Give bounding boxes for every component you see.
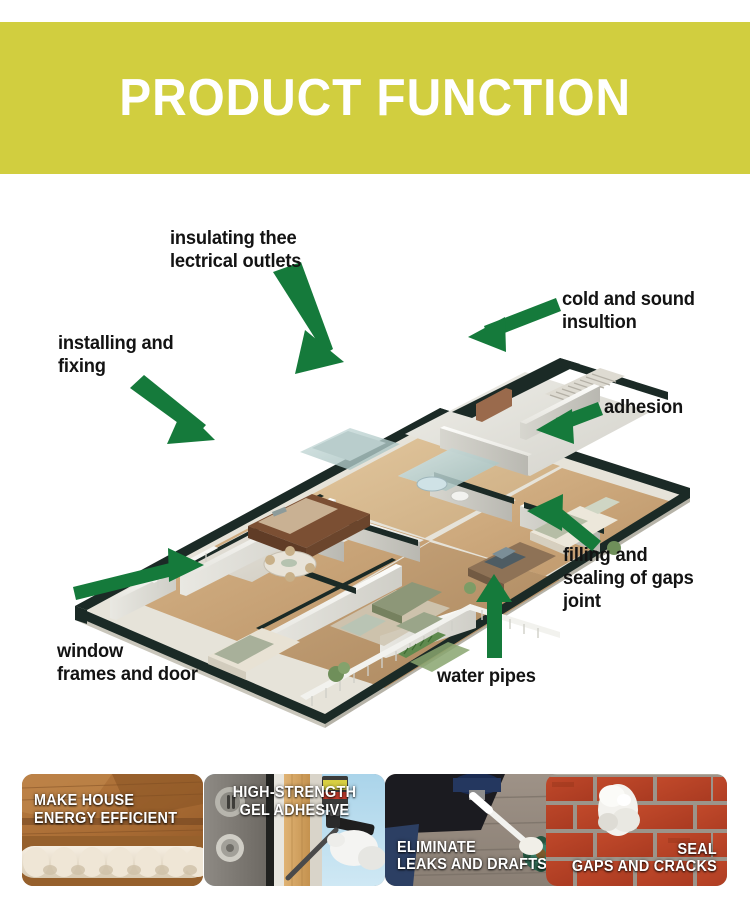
thumbnail-seal-gaps-and-cracks[interactable]: SEAL GAPS AND CRACKS bbox=[546, 774, 727, 886]
thumbnail-caption: HIGH-STRENGTH GEL ADHESIVE bbox=[218, 784, 370, 819]
thumbnail-eliminate-leaks-and-drafts[interactable]: ELIMINATE LEAKS AND DRAFTS bbox=[385, 774, 566, 886]
callout-label-adhesion: adhesion bbox=[604, 396, 683, 419]
callout-label-electrical: insulating thee lectrical outlets bbox=[170, 227, 301, 273]
arrow-filling bbox=[527, 494, 601, 551]
callout-label-installing: installing and fixing bbox=[58, 332, 174, 378]
header-banner: PRODUCT FUNCTION bbox=[0, 22, 750, 174]
thumbnail-caption: ELIMINATE LEAKS AND DRAFTS bbox=[397, 839, 549, 874]
thumbnail-high-strength-gel-adhesive[interactable]: HIGH-STRENGTH GEL ADHESIVE bbox=[204, 774, 385, 886]
foam-bead bbox=[22, 846, 203, 878]
arrow-adhesion bbox=[536, 402, 603, 444]
callout-label-cold-sound-insulation: cold and sound insultion bbox=[562, 288, 695, 334]
thumbnail-caption: MAKE HOUSE ENERGY EFFICIENT bbox=[34, 792, 186, 827]
page-title: PRODUCT FUNCTION bbox=[119, 72, 631, 124]
floorplan-illustration: insulating thee lectrical outlets instal… bbox=[0, 176, 750, 756]
thumbnail-make-house-energy-efficient[interactable]: MAKE HOUSE ENERGY EFFICIENT bbox=[22, 774, 203, 886]
arrow-installing bbox=[130, 375, 215, 444]
callout-label-water-pipes: water pipes bbox=[437, 665, 536, 688]
foam-bead-on-wood-joist-art bbox=[22, 774, 203, 886]
product-function-infographic: PRODUCT FUNCTION bbox=[0, 0, 750, 920]
callout-label-window-frames: window frames and door bbox=[57, 640, 198, 686]
arrow-cold bbox=[468, 298, 561, 352]
arrow-electrical bbox=[273, 262, 344, 374]
arrow-water bbox=[476, 574, 512, 658]
thumbnail-caption: SEAL GAPS AND CRACKS bbox=[563, 841, 717, 876]
callout-label-filling-sealing: filling and sealing of gaps joint bbox=[563, 544, 694, 613]
arrow-window bbox=[73, 548, 204, 600]
feature-thumbnail-strip: MAKE HOUSE ENERGY EFFICIENT bbox=[0, 766, 750, 906]
